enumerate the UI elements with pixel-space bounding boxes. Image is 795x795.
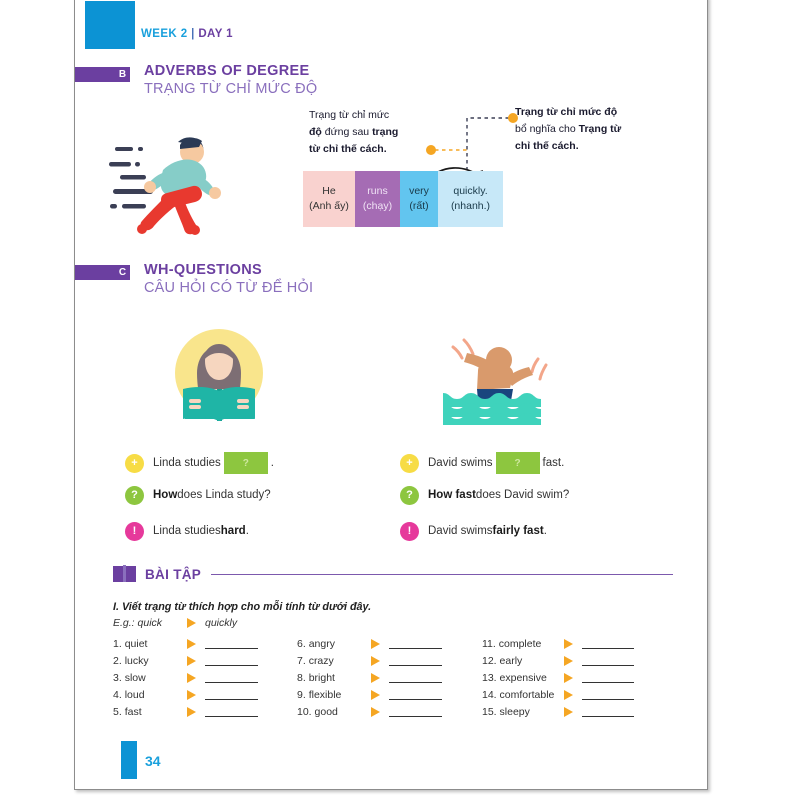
list-item: 8. bright bbox=[297, 669, 442, 686]
diagram-note-left: Trạng từ chỉ mức độ đứng sau trạng từ ch… bbox=[309, 107, 414, 158]
answer-blank-1[interactable] bbox=[205, 639, 258, 649]
list-item: 10. good bbox=[297, 703, 442, 720]
list-item: 6. angry bbox=[297, 635, 442, 652]
exercise-item-5-label: 5. fast bbox=[113, 706, 187, 718]
word-box-very: very (rất) bbox=[400, 171, 438, 227]
exclamation-icon: ! bbox=[400, 522, 419, 541]
qa-row-david-question: ? How fast does David swim? bbox=[400, 477, 569, 513]
answer-blank-14[interactable] bbox=[582, 690, 634, 700]
list-item: 2. lucky bbox=[113, 652, 258, 669]
word-en-quickly: quickly. bbox=[453, 184, 487, 199]
exercise-item-12-label: 12. early bbox=[482, 655, 564, 667]
answer-blank-13[interactable] bbox=[582, 673, 634, 683]
david-question-rest: does David swim? bbox=[476, 489, 569, 501]
qa-row-linda-statement: + Linda studies ? . bbox=[125, 449, 274, 477]
answer-blank-15[interactable] bbox=[582, 707, 634, 717]
qa-text-david-question: How fast does David swim? bbox=[428, 489, 569, 501]
footer-blue-tab bbox=[121, 741, 137, 779]
triangle-arrow-icon bbox=[371, 639, 380, 649]
day-text: DAY 1 bbox=[198, 28, 233, 40]
week-day-label: WEEK 2 | DAY 1 bbox=[141, 28, 233, 40]
david-answer-post: . bbox=[544, 525, 547, 537]
word-vi-quickly: (nhanh.) bbox=[451, 199, 490, 214]
example-left-rows: + Linda studies ? . ? How does Linda stu… bbox=[125, 449, 274, 549]
section-c-marker: C bbox=[75, 265, 130, 280]
exercise-column-2: 6. angry 7. crazy 8. bright 9. flexible … bbox=[297, 635, 442, 720]
exercise-item-10-label: 10. good bbox=[297, 706, 371, 718]
word-vi-very: (rất) bbox=[409, 199, 428, 214]
plus-icon: + bbox=[125, 454, 144, 473]
note-right-bold: Trạng từ bbox=[579, 123, 622, 135]
week-text: WEEK 2 bbox=[141, 28, 188, 40]
david-question-bold: How fast bbox=[428, 489, 476, 501]
girl-reading-illustration bbox=[167, 321, 272, 431]
triangle-arrow-icon bbox=[371, 690, 380, 700]
qa-row-linda-answer: ! Linda studies hard. bbox=[125, 513, 274, 549]
linda-question-bold: How bbox=[153, 489, 177, 501]
exclamation-icon: ! bbox=[125, 522, 144, 541]
exercise-column-3: 11. complete 12. early 13. expensive 14.… bbox=[482, 635, 634, 720]
exercise-item-13-label: 13. expensive bbox=[482, 672, 564, 684]
runner-illustration bbox=[105, 125, 235, 242]
david-statement-post: fast. bbox=[543, 457, 565, 469]
exercise-column-1: 1. quiet 2. lucky 3. slow 4. loud 5. fas… bbox=[113, 635, 258, 720]
list-item: 14. comfortable bbox=[482, 686, 634, 703]
section-b-title-en: ADVERBS OF DEGREE bbox=[144, 63, 317, 79]
section-b-title-vi: TRẠNG TỪ CHỈ MỨC ĐỘ bbox=[144, 81, 317, 97]
qa-text-david-statement: David swims ? fast. bbox=[428, 452, 564, 474]
section-c-badge: C bbox=[115, 265, 130, 280]
section-c-title-vi: CÂU HỎI CÓ TỪ ĐỂ HỎI bbox=[144, 280, 313, 296]
triangle-arrow-icon bbox=[187, 639, 196, 649]
answer-blank-7[interactable] bbox=[389, 656, 442, 666]
section-b-marker: B bbox=[75, 67, 130, 82]
word-box-runs: runs (chạy) bbox=[355, 171, 400, 227]
list-item: 11. complete bbox=[482, 635, 634, 652]
david-answer-bold: fairly fast bbox=[493, 525, 544, 537]
triangle-arrow-icon bbox=[187, 673, 196, 683]
linda-answer-pre: Linda studies bbox=[153, 525, 221, 537]
word-box-he: He (Anh ấy) bbox=[303, 171, 355, 227]
exercise-item-11-label: 11. complete bbox=[482, 638, 564, 650]
week-day-separator: | bbox=[191, 28, 195, 40]
exercise-header: BÀI TẬP bbox=[113, 565, 673, 583]
word-box-quickly: quickly. (nhanh.) bbox=[438, 171, 503, 227]
triangle-arrow-icon bbox=[187, 618, 196, 628]
exercise-example-label: E.g.: quick bbox=[113, 617, 187, 629]
answer-blank-6[interactable] bbox=[389, 639, 442, 649]
triangle-arrow-icon bbox=[371, 656, 380, 666]
linda-statement-pre: Linda studies bbox=[153, 457, 221, 469]
list-item: 9. flexible bbox=[297, 686, 442, 703]
exercise-item-4-label: 4. loud bbox=[113, 689, 187, 701]
exercise-item-2-label: 2. lucky bbox=[113, 655, 187, 667]
note-left-bold-do: độ bbox=[309, 126, 322, 138]
triangle-arrow-icon bbox=[564, 673, 573, 683]
blank-answer-box-david[interactable]: ? bbox=[496, 452, 540, 474]
exercise-item-3-label: 3. slow bbox=[113, 672, 187, 684]
answer-blank-9[interactable] bbox=[389, 690, 442, 700]
list-item: 1. quiet bbox=[113, 635, 258, 652]
triangle-arrow-icon bbox=[371, 707, 380, 717]
exercise-item-8-label: 8. bright bbox=[297, 672, 371, 684]
triangle-arrow-icon bbox=[187, 690, 196, 700]
answer-blank-3[interactable] bbox=[205, 673, 258, 683]
note-left-mid: đứng sau bbox=[322, 126, 372, 138]
word-en-he: He bbox=[322, 184, 335, 199]
section-c-heading: WH-QUESTIONS CÂU HỎI CÓ TỪ ĐỂ HỎI bbox=[144, 262, 313, 296]
header-blue-tab bbox=[85, 1, 135, 49]
example-right-rows: + David swims ? fast. ? How fast does Da… bbox=[400, 449, 569, 549]
david-statement-pre: David swims bbox=[428, 457, 493, 469]
word-en-very: very bbox=[409, 184, 429, 199]
exercise-title: BÀI TẬP bbox=[145, 567, 201, 582]
word-en-runs: runs bbox=[367, 184, 387, 199]
section-b-bar bbox=[75, 67, 115, 82]
list-item: 12. early bbox=[482, 652, 634, 669]
section-c-bar bbox=[75, 265, 115, 280]
exercise-item-1-label: 1. quiet bbox=[113, 638, 187, 650]
triangle-arrow-icon bbox=[564, 656, 573, 666]
exercise-example: E.g.: quick quickly bbox=[113, 617, 237, 629]
qa-text-linda-statement: Linda studies ? . bbox=[153, 452, 274, 474]
sentence-word-boxes: He (Anh ấy) runs (chạy) very (rất) quick… bbox=[303, 171, 503, 227]
exercise-example-answer: quickly bbox=[205, 617, 237, 629]
note-left-line1: Trạng từ chỉ mức bbox=[309, 107, 414, 124]
book-icon bbox=[113, 565, 137, 583]
triangle-arrow-icon bbox=[564, 639, 573, 649]
qa-row-david-answer: ! David swims fairly fast. bbox=[400, 513, 569, 549]
answer-blank-12[interactable] bbox=[582, 656, 634, 666]
qa-text-linda-answer: Linda studies hard. bbox=[153, 525, 249, 537]
triangle-arrow-icon bbox=[187, 656, 196, 666]
david-answer-pre: David swims bbox=[428, 525, 493, 537]
linda-answer-bold: hard bbox=[221, 525, 246, 537]
word-vi-he: (Anh ấy) bbox=[309, 199, 349, 214]
blank-answer-box-linda[interactable]: ? bbox=[224, 452, 268, 474]
note-left-line2: độ đứng sau trạng bbox=[309, 124, 414, 141]
answer-blank-2[interactable] bbox=[205, 656, 258, 666]
question-icon: ? bbox=[400, 486, 419, 505]
answer-blank-11[interactable] bbox=[582, 639, 634, 649]
section-b-badge: B bbox=[115, 67, 130, 82]
triangle-arrow-icon bbox=[371, 673, 380, 683]
answer-blank-5[interactable] bbox=[205, 707, 258, 717]
triangle-arrow-icon bbox=[564, 707, 573, 717]
page-sheet: WEEK 2 | DAY 1 B ADVERBS OF DEGREE TRẠNG… bbox=[74, 0, 708, 790]
list-item: 3. slow bbox=[113, 669, 258, 686]
exercise-divider bbox=[211, 574, 673, 575]
section-c-title-en: WH-QUESTIONS bbox=[144, 262, 313, 278]
qa-row-david-statement: + David swims ? fast. bbox=[400, 449, 569, 477]
triangle-arrow-icon bbox=[187, 707, 196, 717]
exercise-item-9-label: 9. flexible bbox=[297, 689, 371, 701]
qa-text-david-answer: David swims fairly fast. bbox=[428, 525, 547, 537]
page-number: 34 bbox=[145, 753, 161, 769]
answer-blank-10[interactable] bbox=[389, 707, 442, 717]
triangle-arrow-icon bbox=[564, 690, 573, 700]
linda-question-rest: does Linda study? bbox=[177, 489, 270, 501]
exercise-item-14-label: 14. comfortable bbox=[482, 689, 564, 701]
answer-blank-8[interactable] bbox=[389, 673, 442, 683]
note-left-line3-text: từ chỉ thế cách. bbox=[309, 143, 387, 155]
note-left-line3: từ chỉ thế cách. bbox=[309, 141, 414, 158]
answer-blank-4[interactable] bbox=[205, 690, 258, 700]
list-item: 15. sleepy bbox=[482, 703, 634, 720]
plus-icon: + bbox=[400, 454, 419, 473]
list-item: 13. expensive bbox=[482, 669, 634, 686]
qa-text-linda-question: How does Linda study? bbox=[153, 489, 271, 501]
linda-statement-post: . bbox=[271, 457, 274, 469]
exercise-instruction: I. Viết trạng từ thích hợp cho mỗi tính … bbox=[113, 601, 371, 613]
list-item: 7. crazy bbox=[297, 652, 442, 669]
swimmer-illustration bbox=[437, 329, 555, 432]
note-left-bold-trang: trạng bbox=[372, 126, 398, 138]
list-item: 5. fast bbox=[113, 703, 258, 720]
exercise-item-6-label: 6. angry bbox=[297, 638, 371, 650]
exercise-item-7-label: 7. crazy bbox=[297, 655, 371, 667]
qa-row-linda-question: ? How does Linda study? bbox=[125, 477, 274, 513]
exercise-item-15-label: 15. sleepy bbox=[482, 706, 564, 718]
word-vi-runs: (chạy) bbox=[363, 199, 392, 214]
linda-answer-post: . bbox=[246, 525, 249, 537]
section-b-heading: ADVERBS OF DEGREE TRẠNG TỪ CHỈ MỨC ĐỘ bbox=[144, 63, 317, 97]
question-icon: ? bbox=[125, 486, 144, 505]
list-item: 4. loud bbox=[113, 686, 258, 703]
